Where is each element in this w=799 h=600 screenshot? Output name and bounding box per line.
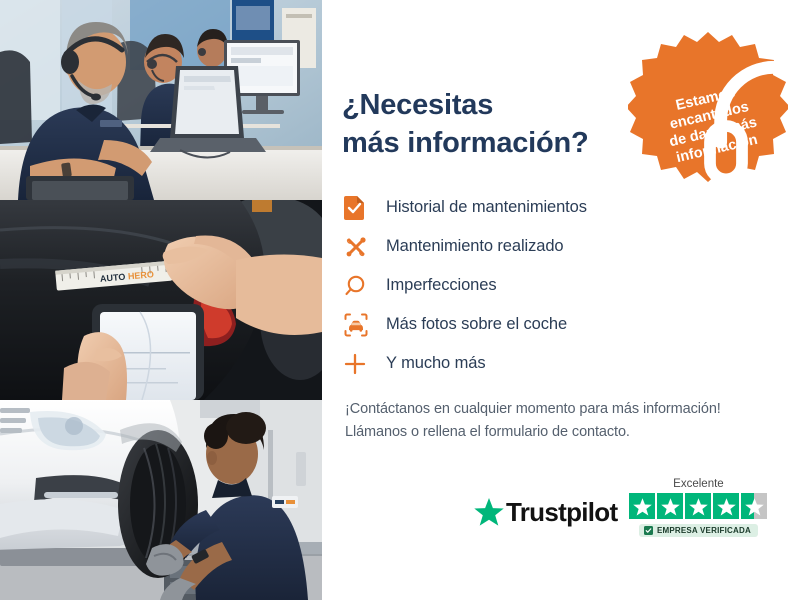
feature-label: Historial de mantenimientos [386,198,587,217]
contact-line-2: Llámanos o rellena el formulario de cont… [345,421,785,444]
car-viewfinder-icon [344,310,378,340]
star-half [741,493,767,519]
star-filled [629,493,655,519]
feature-list: Historial de mantenimientos M [344,188,764,383]
rating-label: Excelente [673,478,724,490]
content-panel: ¿Necesitas más información? Estamos enca… [322,0,799,600]
status-badge: Estamos encantados de darte más informac… [628,30,788,190]
feature-item-fotos: Más fotos sobre el coche [344,305,764,344]
trustpilot-rating: Excelente [629,478,767,537]
promo-banner: AUTO HERO [0,0,799,600]
feature-label: Y mucho más [386,354,485,373]
headset-icon [694,46,799,206]
document-check-icon [344,193,378,223]
feature-item-imperfecciones: Imperfecciones [344,266,764,305]
star-rating [629,493,767,519]
verified-label: EMPRESA VERIFICADA [657,526,751,535]
photo-column: AUTO HERO [0,0,322,600]
page-title: ¿Necesitas más información? [342,87,632,161]
feature-item-mas: Y mucho más [344,344,764,383]
headline-line-1: ¿Necesitas [342,89,493,121]
plus-icon [344,349,378,379]
wheel-inspection-photo [0,400,322,600]
car-inspection-photo: AUTO HERO [0,200,322,400]
star-filled [713,493,739,519]
trustpilot-wordmark: Trustpilot [506,497,617,528]
star-filled [685,493,711,519]
trustpilot-star-icon [474,498,504,527]
headline-line-2: más información? [342,125,632,162]
contact-text: ¡Contáctanos en cualquier momento para m… [345,398,785,445]
status-badge-verified: EMPRESA VERIFICADA [639,524,758,537]
feature-item-mantenimiento: Mantenimiento realizado [344,227,764,266]
feature-label: Más fotos sobre el coche [386,315,567,334]
feature-label: Imperfecciones [386,276,496,295]
contact-line-1: ¡Contáctanos en cualquier momento para m… [345,398,785,421]
feature-item-historial: Historial de mantenimientos [344,188,764,227]
trustpilot-logo: Trustpilot [474,497,617,528]
star-filled [657,493,683,519]
magnifier-icon [344,271,378,301]
trustpilot-widget[interactable]: Trustpilot Excelente [474,478,767,537]
feature-label: Mantenimiento realizado [386,237,563,256]
call-center-agents-photo [0,0,322,200]
verified-shield-icon [644,526,653,535]
tools-cross-icon [344,232,378,262]
